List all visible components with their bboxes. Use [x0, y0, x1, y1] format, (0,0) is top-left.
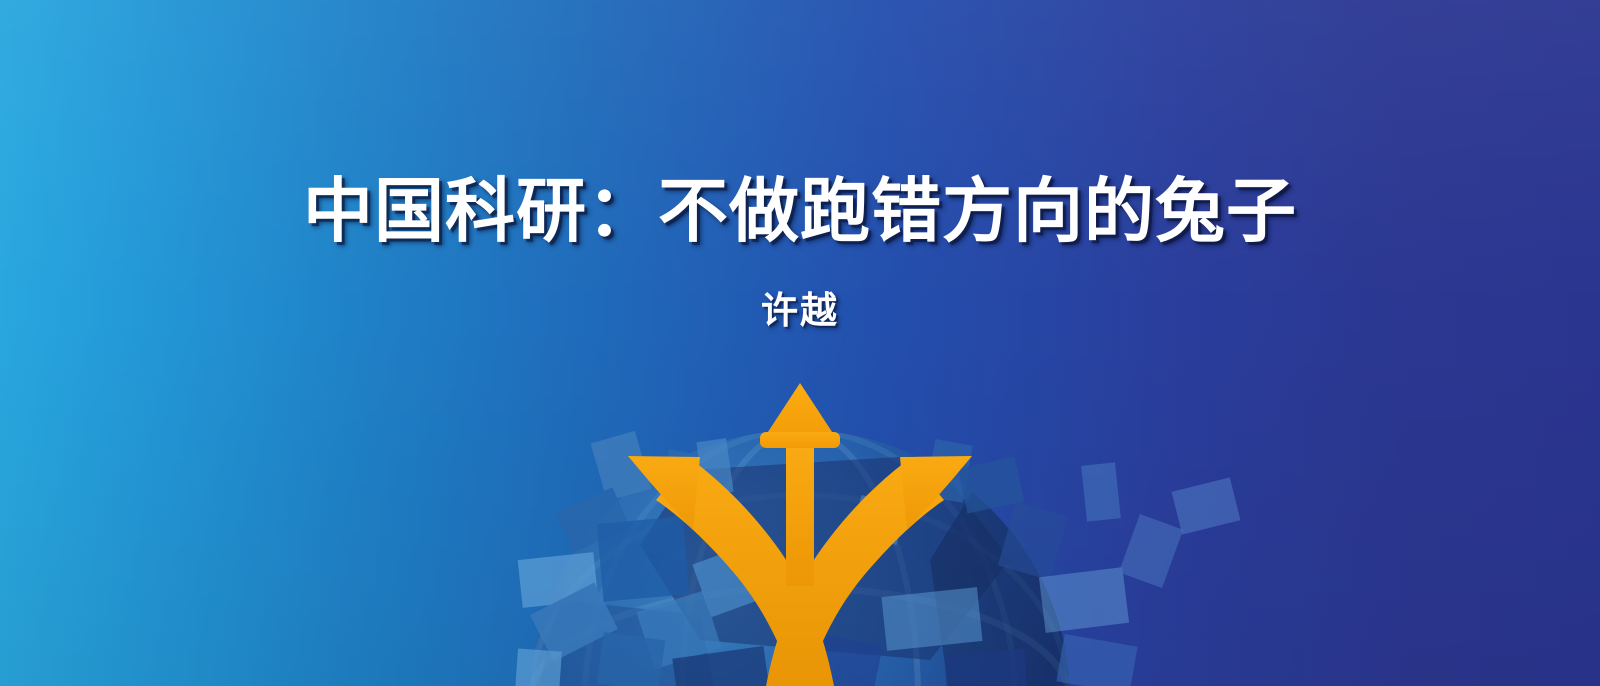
presentation-slide: 中国科研：不做跑错方向的兔子 许越	[0, 0, 1600, 686]
arrow-up-shaft	[786, 438, 814, 586]
page-title: 中国科研：不做跑错方向的兔子	[0, 176, 1600, 246]
author-subtitle: 许越	[0, 292, 1600, 329]
arrow-up-head-base	[760, 432, 840, 448]
globe-arrows-illustration	[0, 0, 1600, 686]
